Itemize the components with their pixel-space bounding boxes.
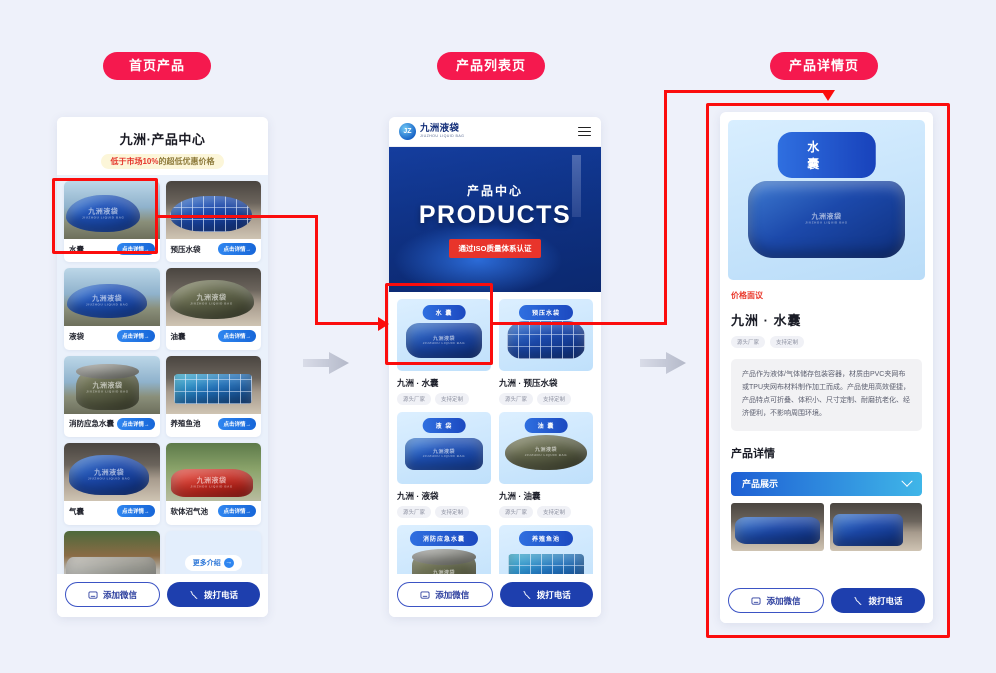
call-phone-label: 拨打电话 xyxy=(868,595,902,607)
home-subtitle-highlight: 低于市场10% xyxy=(110,157,158,166)
list-product-card-yangzhiyuchi[interactable]: 养殖鱼池 xyxy=(499,525,593,578)
product-tag: 油 囊 xyxy=(525,418,568,433)
product-name: 液袋 xyxy=(69,331,84,342)
phone-icon xyxy=(522,590,532,600)
hero-title-cn: 产品中心 xyxy=(467,182,523,199)
product-name: 预压水袋 xyxy=(171,244,201,255)
add-wechat-button[interactable]: 添加微信 xyxy=(65,582,160,607)
chevron-down-icon xyxy=(901,475,912,486)
product-tag: 消防应急水囊 xyxy=(410,531,478,546)
detail-gallery xyxy=(731,503,922,551)
chip-source: 源头厂家 xyxy=(397,393,431,405)
call-phone-label: 拨打电话 xyxy=(204,589,238,601)
phone-icon xyxy=(189,590,199,600)
chip-source: 源头厂家 xyxy=(499,506,533,518)
product-tag: 液 袋 xyxy=(423,418,466,433)
detail-badge[interactable]: 点击详情→ xyxy=(218,418,256,430)
brand-logo[interactable]: JZ 九洲液袋 JIUZHOU LIQUID BAG xyxy=(399,123,464,140)
detail-badge[interactable]: 点击详情→ xyxy=(218,243,256,255)
product-name: 水囊 xyxy=(69,244,84,255)
step-label-home: 首页产品 xyxy=(103,52,211,80)
call-phone-button[interactable]: 拨打电话 xyxy=(500,582,594,607)
gallery-image-1[interactable] xyxy=(731,503,824,551)
arrow-circle-icon: → xyxy=(224,558,234,568)
home-product-card-zhaoqichi[interactable]: 九洲液袋JIUZHOU LIQUID BAG 软体沼气池 点击详情→ xyxy=(166,443,262,524)
list-product-card-yuyashuidai[interactable]: 预压水袋 九洲 · 预压水袋 源头厂家 支持定制 xyxy=(499,299,593,405)
brand-name-cn: 九洲液袋 xyxy=(420,124,464,134)
home-product-card-qinang[interactable]: 九洲液袋JIUZHOU LIQUID BAG 气囊 点击详情→ xyxy=(64,443,160,524)
brand-name-en: JIUZHOU LIQUID BAG xyxy=(420,135,464,139)
detail-badge[interactable]: 点击详情→ xyxy=(117,418,155,430)
chip-custom: 支持定制 xyxy=(770,336,804,348)
product-photo: 液 袋 九洲液袋JIUZHOU LIQUID BAG xyxy=(397,412,491,484)
connector-1-arrowhead xyxy=(378,317,389,331)
call-phone-button[interactable]: 拨打电话 xyxy=(167,582,260,607)
home-header: 九洲·产品中心 低于市场10%的超低优惠价格 xyxy=(57,117,268,175)
product-photo: 消防应急水囊 九洲液袋JIUZHOU LIQUID BAG xyxy=(397,525,491,578)
chip-custom: 支持定制 xyxy=(537,506,571,518)
detail-hero-image: 水 囊 九洲液袋JIUZHOU LIQUID BAG xyxy=(728,120,925,280)
detail-price: 价格面议 xyxy=(731,290,922,301)
step-label-list: 产品列表页 xyxy=(437,52,545,80)
product-photo xyxy=(166,356,262,414)
product-tag: 水 囊 xyxy=(423,305,466,320)
phone-screen-home: 九洲·产品中心 低于市场10%的超低优惠价格 九洲液袋JIUZHOU LIQUI… xyxy=(57,117,268,617)
product-chips: 源头厂家 支持定制 xyxy=(499,506,593,518)
product-name: 九洲 · 油囊 xyxy=(499,490,593,502)
product-photo: 九洲液袋JIUZHOU LIQUID BAG xyxy=(64,356,160,414)
accordion-label: 产品展示 xyxy=(742,477,778,490)
home-product-card-yedai[interactable]: 九洲液袋JIUZHOU LIQUID BAG 液袋 点击详情→ xyxy=(64,268,160,349)
phone-icon xyxy=(853,596,863,606)
wechat-icon xyxy=(88,590,98,600)
product-chips: 源头厂家 支持定制 xyxy=(397,506,491,518)
home-title: 九洲·产品中心 xyxy=(57,129,268,148)
product-name: 九洲 · 预压水袋 xyxy=(499,377,593,389)
more-intro-button[interactable]: 更多介绍 → xyxy=(185,555,242,571)
product-name: 消防应急水囊 xyxy=(69,418,114,429)
product-photo: 养殖鱼池 xyxy=(499,525,593,578)
product-name: 软体沼气池 xyxy=(171,506,209,517)
product-chips: 源头厂家 支持定制 xyxy=(499,393,593,405)
hero-title-en: PRODUCTS xyxy=(419,201,571,230)
home-subtitle: 低于市场10%的超低优惠价格 xyxy=(101,154,223,169)
home-product-card-shuinang[interactable]: 九洲液袋JIUZHOU LIQUID BAG 水囊 点击详情→ xyxy=(64,181,160,262)
detail-badge[interactable]: 点击详情→ xyxy=(117,505,155,517)
chip-source: 源头厂家 xyxy=(397,506,431,518)
logo-mark-icon: JZ xyxy=(399,123,416,140)
product-photo: 九洲液袋JIUZHOU LIQUID BAG xyxy=(64,181,160,239)
list-product-card-xiaofang[interactable]: 消防应急水囊 九洲液袋JIUZHOU LIQUID BAG xyxy=(397,525,491,578)
home-product-card-younang[interactable]: 九洲液袋JIUZHOU LIQUID BAG 油囊 点击详情→ xyxy=(166,268,262,349)
connector-1-segment-v xyxy=(315,215,318,325)
chip-custom: 支持定制 xyxy=(435,393,469,405)
product-name: 九洲 · 液袋 xyxy=(397,490,491,502)
add-wechat-button[interactable]: 添加微信 xyxy=(728,588,824,613)
product-photo: 九洲液袋JIUZHOU LIQUID BAG xyxy=(64,268,160,326)
connector-1-segment-h2 xyxy=(315,322,379,325)
gallery-image-2[interactable] xyxy=(830,503,923,551)
call-phone-label: 拨打电话 xyxy=(537,589,571,601)
hero-iso-tag: 通过ISO质量体系认证 xyxy=(449,239,542,258)
phone-screen-list: JZ 九洲液袋 JIUZHOU LIQUID BAG 产品中心 PRODUCTS… xyxy=(389,117,601,617)
hamburger-icon[interactable] xyxy=(578,127,591,137)
home-product-grid: 九洲液袋JIUZHOU LIQUID BAG 水囊 点击详情→ 预压水袋 点击详… xyxy=(57,175,268,595)
add-wechat-label: 添加微信 xyxy=(435,589,469,601)
product-photo: 预压水袋 xyxy=(499,299,593,371)
home-subtitle-rest: 的超低优惠价格 xyxy=(159,157,215,166)
add-wechat-label: 添加微信 xyxy=(103,589,137,601)
call-phone-button[interactable]: 拨打电话 xyxy=(831,588,925,613)
detail-hero-tag: 水 囊 xyxy=(777,132,876,178)
detail-title: 九洲 · 水囊 xyxy=(731,310,922,329)
detail-body: 价格面议 九洲 · 水囊 源头厂家 支持定制 产品作为液体/气体储存包装容器，材… xyxy=(720,280,933,551)
home-product-card-xiaofang[interactable]: 九洲液袋JIUZHOU LIQUID BAG 消防应急水囊 点击详情→ xyxy=(64,356,160,437)
detail-cta-bar: 添加微信 拨打电话 xyxy=(720,580,933,623)
product-photo: 九洲液袋JIUZHOU LIQUID BAG xyxy=(166,268,262,326)
connector-2-segment-h2 xyxy=(664,90,829,93)
detail-section-title: 产品详情 xyxy=(731,445,922,461)
step-arrow-icon-2 xyxy=(640,350,686,376)
product-tag: 预压水袋 xyxy=(519,305,573,320)
list-cta-bar: 添加微信 拨打电话 xyxy=(389,574,601,617)
product-showcase-accordion[interactable]: 产品展示 xyxy=(731,472,922,496)
list-product-card-yedai[interactable]: 液 袋 九洲液袋JIUZHOU LIQUID BAG 九洲 · 液袋 源头厂家 … xyxy=(397,412,491,518)
list-product-grid: 水 囊 九洲液袋JIUZHOU LIQUID BAG 九洲 · 水囊 源头厂家 … xyxy=(389,292,601,578)
chip-custom: 支持定制 xyxy=(537,393,571,405)
product-photo: 水 囊 九洲液袋JIUZHOU LIQUID BAG xyxy=(397,299,491,371)
step-label-detail: 产品详情页 xyxy=(770,52,878,80)
chip-source: 源头厂家 xyxy=(499,393,533,405)
product-name: 养殖鱼池 xyxy=(171,418,201,429)
list-product-card-younang[interactable]: 油 囊 九洲液袋JIUZHOU LIQUID BAG 九洲 · 油囊 源头厂家 … xyxy=(499,412,593,518)
list-hero-banner: 产品中心 PRODUCTS 通过ISO质量体系认证 xyxy=(389,147,601,292)
add-wechat-label: 添加微信 xyxy=(766,595,800,607)
wechat-icon xyxy=(420,590,430,600)
home-cta-bar: 添加微信 拨打电话 xyxy=(57,574,268,617)
product-tag: 养殖鱼池 xyxy=(519,531,573,546)
flow-diagram-canvas: 首页产品 产品列表页 产品详情页 九洲·产品中心 低于市场10%的超低优惠价格 … xyxy=(0,0,996,673)
connector-2-segment-v xyxy=(664,90,667,325)
detail-badge[interactable]: 点击详情→ xyxy=(218,505,256,517)
detail-description: 产品作为液体/气体储存包装容器，材质由PVC夹网布或TPU夹网布材料制作加工而成… xyxy=(731,359,922,431)
detail-badge[interactable]: 点击详情→ xyxy=(117,330,155,342)
detail-badge[interactable]: 点击详情→ xyxy=(117,243,155,255)
add-wechat-button[interactable]: 添加微信 xyxy=(397,582,493,607)
detail-chips: 源头厂家 支持定制 xyxy=(731,336,922,348)
product-photo xyxy=(166,181,262,239)
detail-badge[interactable]: 点击详情→ xyxy=(218,330,256,342)
step-arrow-icon-1 xyxy=(303,350,349,376)
product-photo: 油 囊 九洲液袋JIUZHOU LIQUID BAG xyxy=(499,412,593,484)
home-product-card-yuyashuidai[interactable]: 预压水袋 点击详情→ xyxy=(166,181,262,262)
product-photo: 九洲液袋JIUZHOU LIQUID BAG xyxy=(166,443,262,501)
connector-2-arrowhead xyxy=(821,90,835,101)
product-name: 油囊 xyxy=(171,331,186,342)
product-photo: 九洲液袋JIUZHOU LIQUID BAG xyxy=(64,443,160,501)
product-name: 九洲 · 水囊 xyxy=(397,377,491,389)
home-product-card-yangzhiyuchi[interactable]: 养殖鱼池 点击详情→ xyxy=(166,356,262,437)
list-navbar: JZ 九洲液袋 JIUZHOU LIQUID BAG xyxy=(389,117,601,147)
wechat-icon xyxy=(751,596,761,606)
chip-custom: 支持定制 xyxy=(435,506,469,518)
product-chips: 源头厂家 支持定制 xyxy=(397,393,491,405)
product-name: 气囊 xyxy=(69,506,84,517)
phone-screen-detail: 水 囊 九洲液袋JIUZHOU LIQUID BAG 价格面议 九洲 · 水囊 … xyxy=(720,112,933,623)
chip-source: 源头厂家 xyxy=(731,336,765,348)
more-intro-label: 更多介绍 xyxy=(193,558,221,568)
list-product-card-shuinang[interactable]: 水 囊 九洲液袋JIUZHOU LIQUID BAG 九洲 · 水囊 源头厂家 … xyxy=(397,299,491,405)
